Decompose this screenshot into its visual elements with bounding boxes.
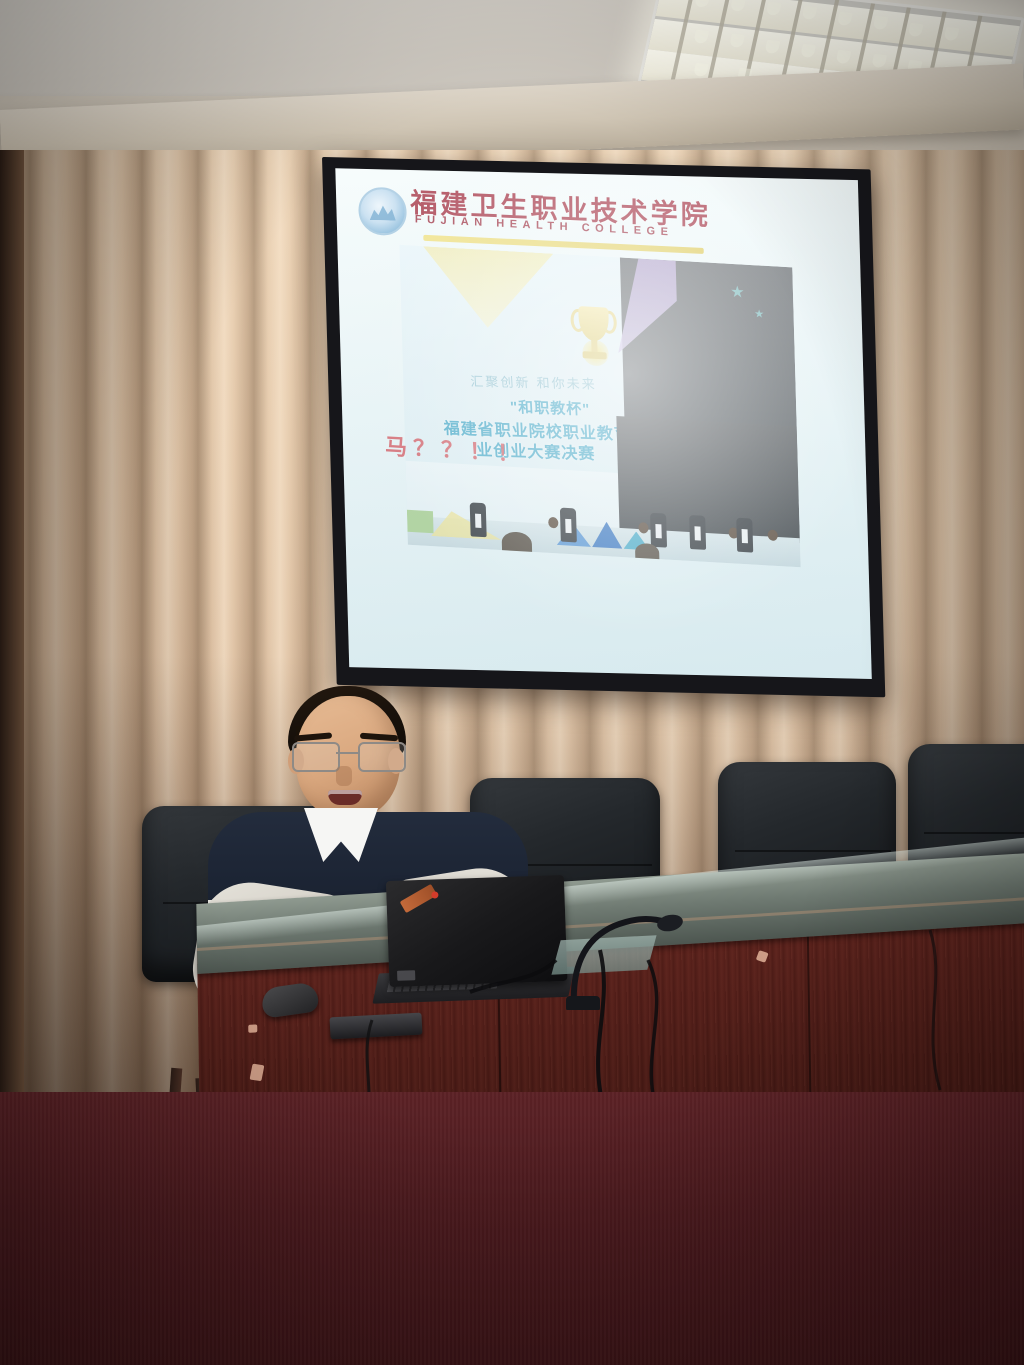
carpet-floor bbox=[0, 1092, 1024, 1365]
photo-scene: 福建卫生职业技术学院 FUJIAN HEALTH COLLEGE ★ ★ 汇聚创… bbox=[0, 0, 1024, 1365]
